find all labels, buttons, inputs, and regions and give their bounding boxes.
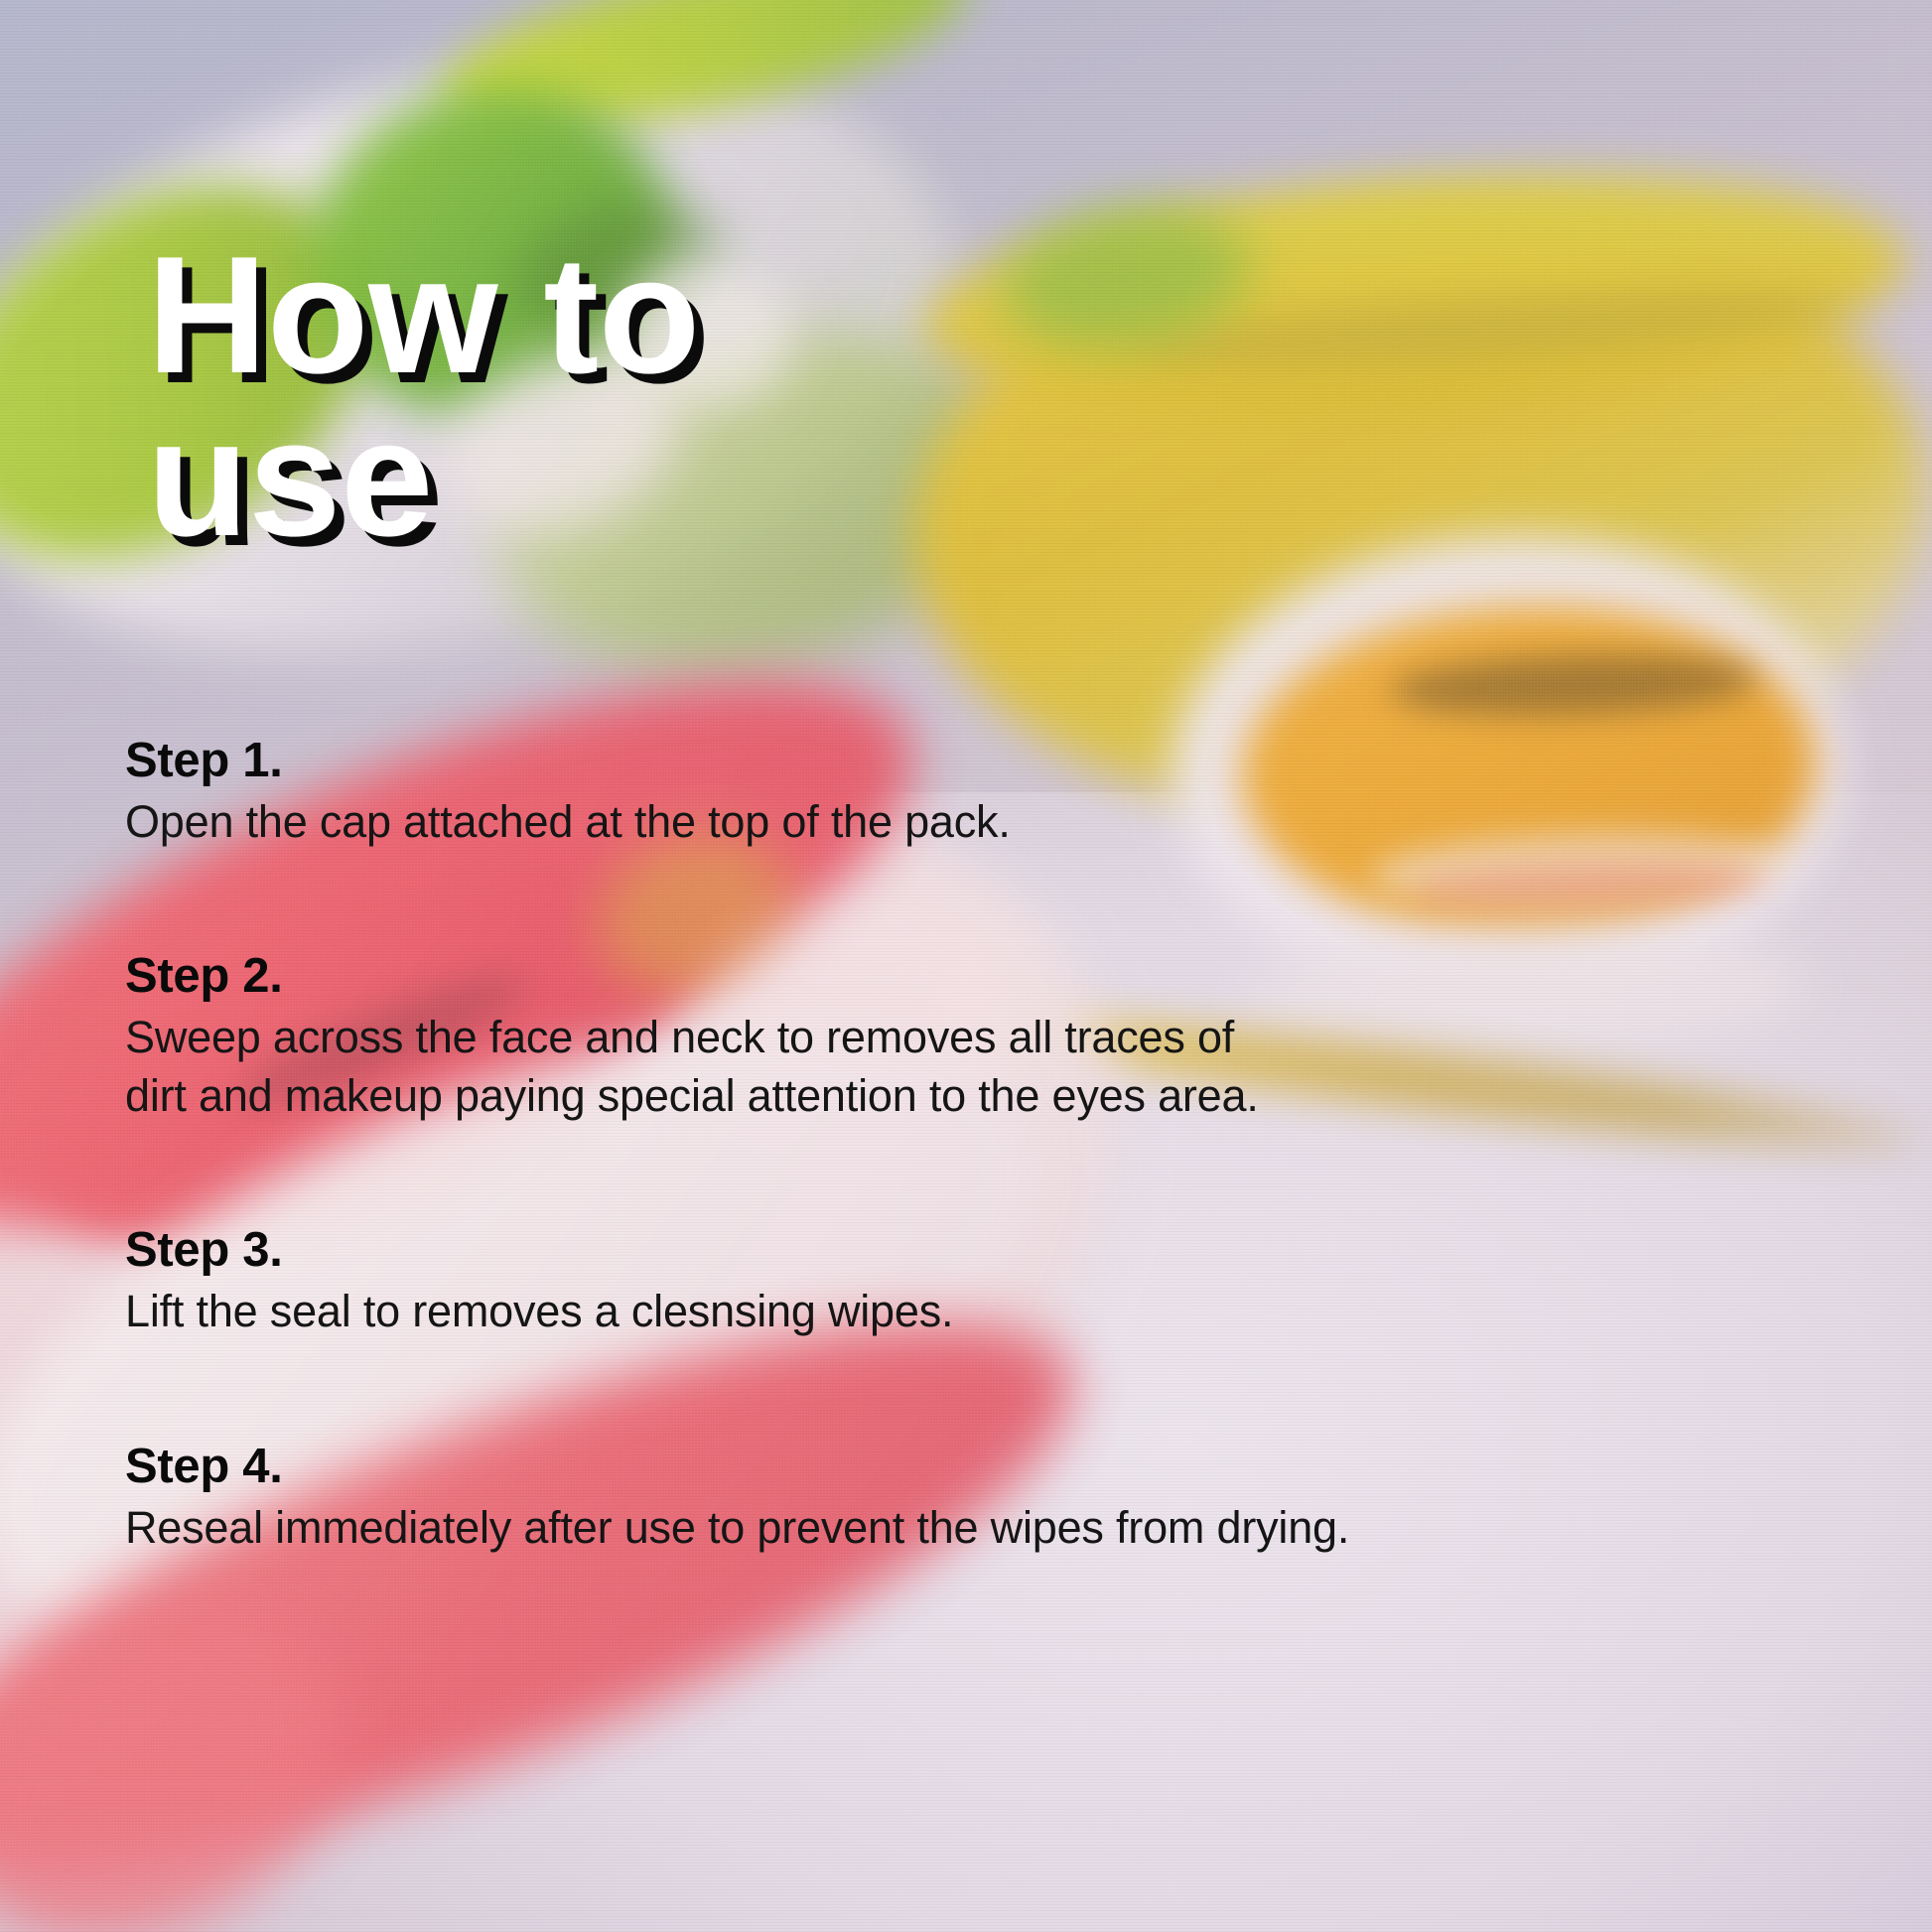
step-3-body: Lift the seal to removes a clesnsing wip… [125,1283,1853,1341]
content-layer: How to use Step 1. Open the cap attached… [0,0,1932,1932]
step-item-1: Step 1. Open the cap attached at the top… [125,735,1853,851]
poster: How to use Step 1. Open the cap attached… [0,0,1932,1932]
step-1-label: Step 1. [125,735,1853,787]
step-3-label: Step 3. [125,1224,1853,1277]
step-item-4: Step 4. Reseal immediately after use to … [125,1441,1853,1557]
step-1-body: Open the cap attached at the top of the … [125,793,1853,852]
step-item-3: Step 3. Lift the seal to removes a clesn… [125,1224,1853,1340]
step-4-body: Reseal immediately after use to prevent … [125,1499,1853,1558]
step-2-body: Sweep across the face and neck to remove… [125,1009,1853,1125]
step-4-label: Step 4. [125,1441,1853,1493]
step-2-label: Step 2. [125,950,1853,1003]
page-title: How to use [147,233,700,560]
steps-list: Step 1. Open the cap attached at the top… [125,735,1853,1557]
step-item-2: Step 2. Sweep across the face and neck t… [125,950,1853,1125]
